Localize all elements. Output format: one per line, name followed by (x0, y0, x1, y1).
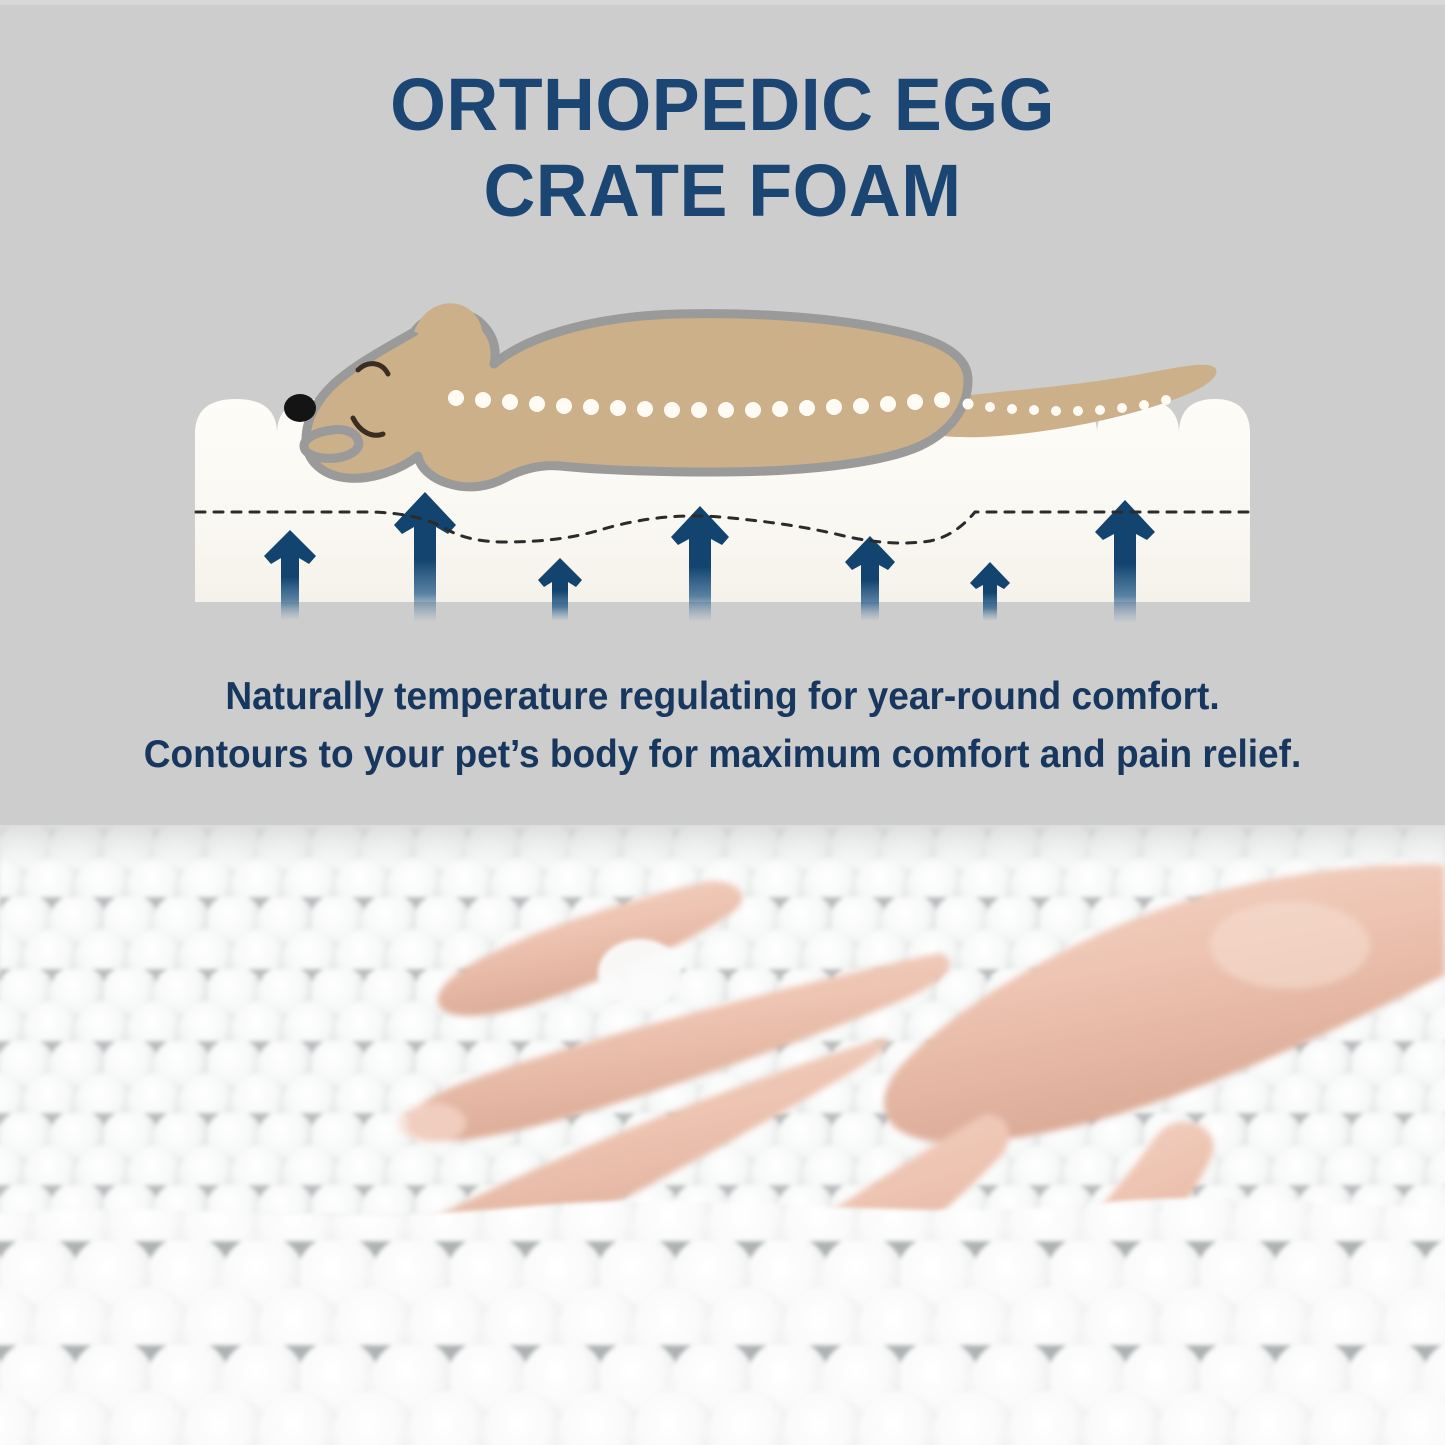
hand-knuckle-highlight (1210, 901, 1370, 989)
dog-nose (284, 394, 316, 422)
dog-body (306, 313, 968, 487)
foam-texture-front-lower (0, 1305, 1445, 1445)
infographic-panel: ORTHOPEDIC EGG CRATE FOAM (0, 0, 1445, 825)
title-line-2: CRATE FOAM (22, 148, 1424, 234)
title-line-1: ORTHOPEDIC EGG (22, 62, 1424, 148)
product-feature-graphic: ORTHOPEDIC EGG CRATE FOAM (0, 0, 1445, 1445)
page-title: ORTHOPEDIC EGG CRATE FOAM (22, 62, 1424, 234)
caption-line-1: Naturally temperature regulating for yea… (36, 668, 1409, 726)
foam-cell-between-fingers (598, 939, 682, 1007)
foam-photo (0, 825, 1445, 1445)
caption-line-2: Contours to your pet’s body for maximum … (36, 726, 1409, 784)
fingernail-highlight (398, 1103, 466, 1143)
photo-top-fade (0, 825, 1445, 865)
feature-caption: Naturally temperature regulating for yea… (36, 668, 1409, 784)
top-edge-hairline (0, 0, 1445, 5)
foam-cross-section-illustration (0, 280, 1445, 660)
dog-front-paw (304, 429, 359, 458)
